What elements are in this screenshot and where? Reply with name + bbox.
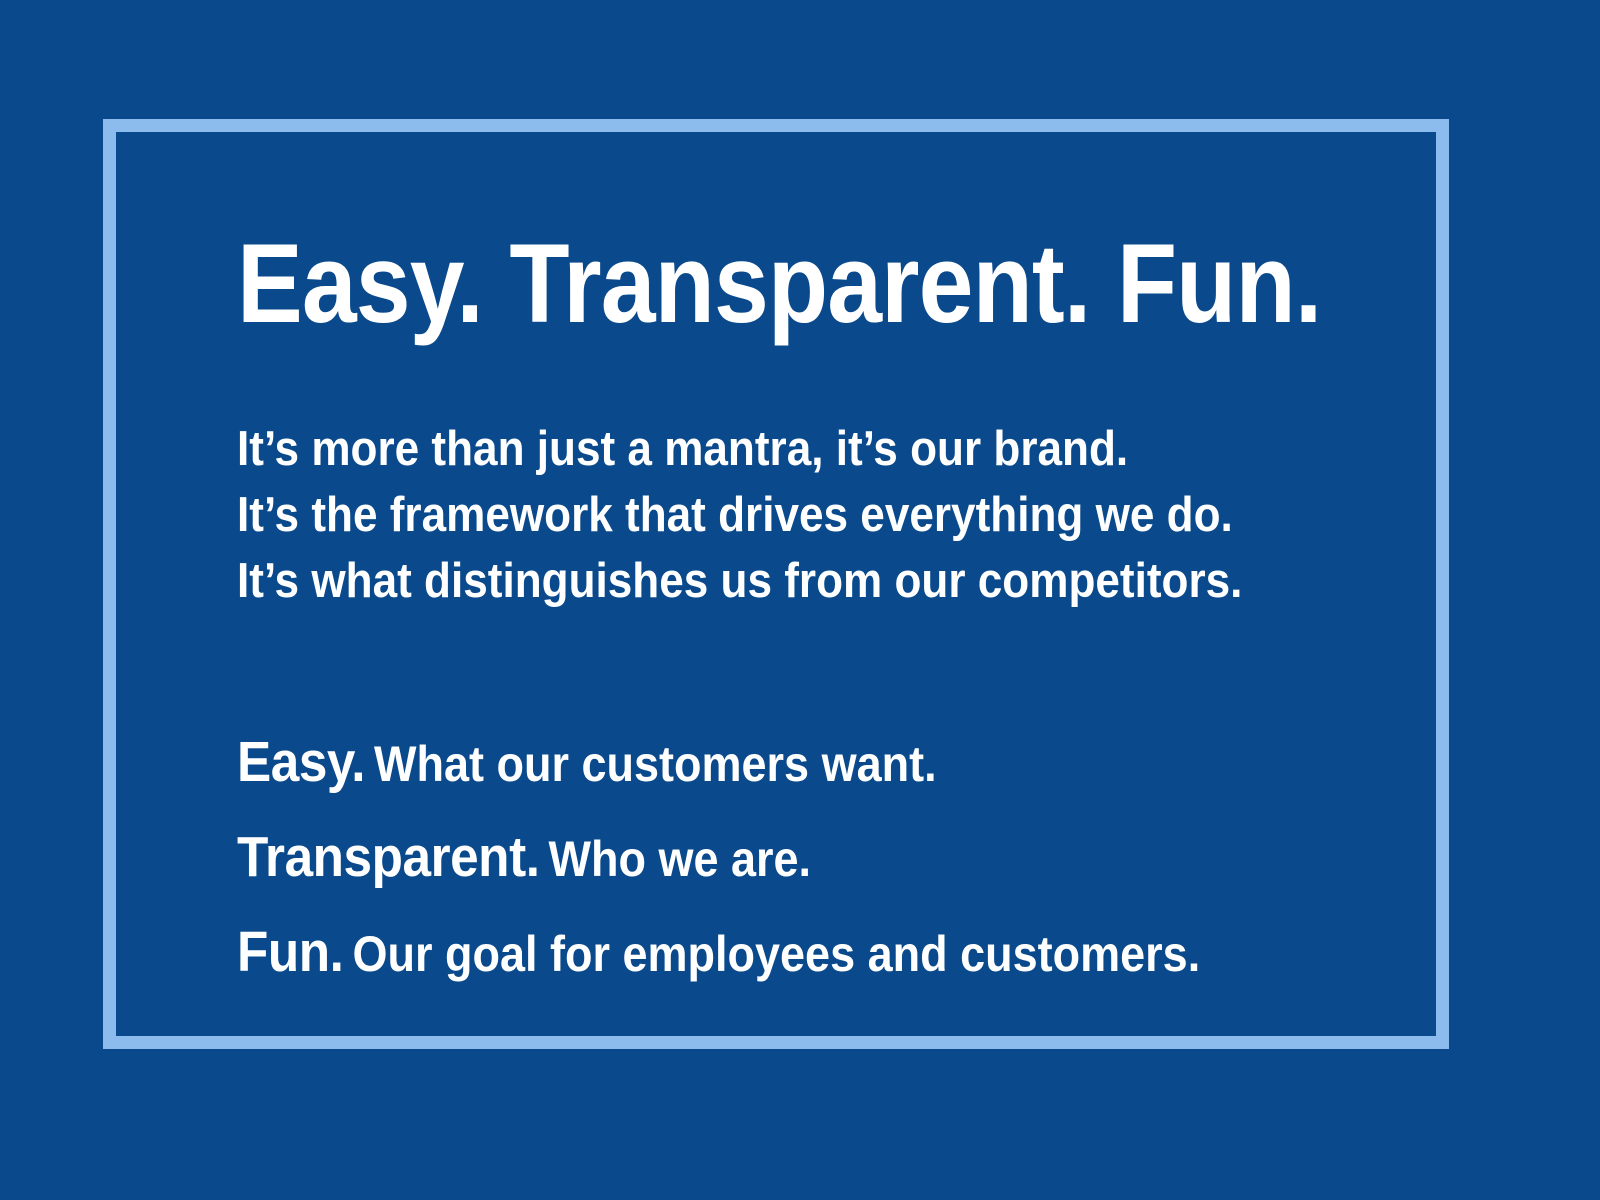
definition-item-fun: Fun.Our goal for employees and customers… (237, 912, 1281, 1007)
definition-description: What our customers want. (365, 736, 937, 792)
intro-line: It’s what distinguishes us from our comp… (237, 548, 1281, 614)
page-title: Easy. Transparent. Fun. (237, 228, 1258, 340)
definition-description: Who we are. (540, 831, 812, 887)
definition-term: Transparent. (237, 825, 540, 889)
definition-term: Easy. (237, 730, 365, 794)
definition-description: Our goal for employees and customers. (343, 926, 1200, 982)
definition-item-easy: Easy.What our customers want. (237, 722, 1281, 817)
definition-list: Easy.What our customers want. Transparen… (237, 722, 1397, 1007)
definition-term: Fun. (237, 920, 343, 984)
slide-canvas: Easy. Transparent. Fun. It’s more than j… (0, 0, 1600, 1200)
intro-line: It’s the framework that drives everythin… (237, 482, 1281, 548)
intro-line: It’s more than just a mantra, it’s our b… (237, 416, 1281, 482)
slide-content: Easy. Transparent. Fun. It’s more than j… (237, 228, 1397, 1007)
definition-item-transparent: Transparent.Who we are. (237, 817, 1281, 912)
intro-paragraph: It’s more than just a mantra, it’s our b… (237, 416, 1397, 614)
